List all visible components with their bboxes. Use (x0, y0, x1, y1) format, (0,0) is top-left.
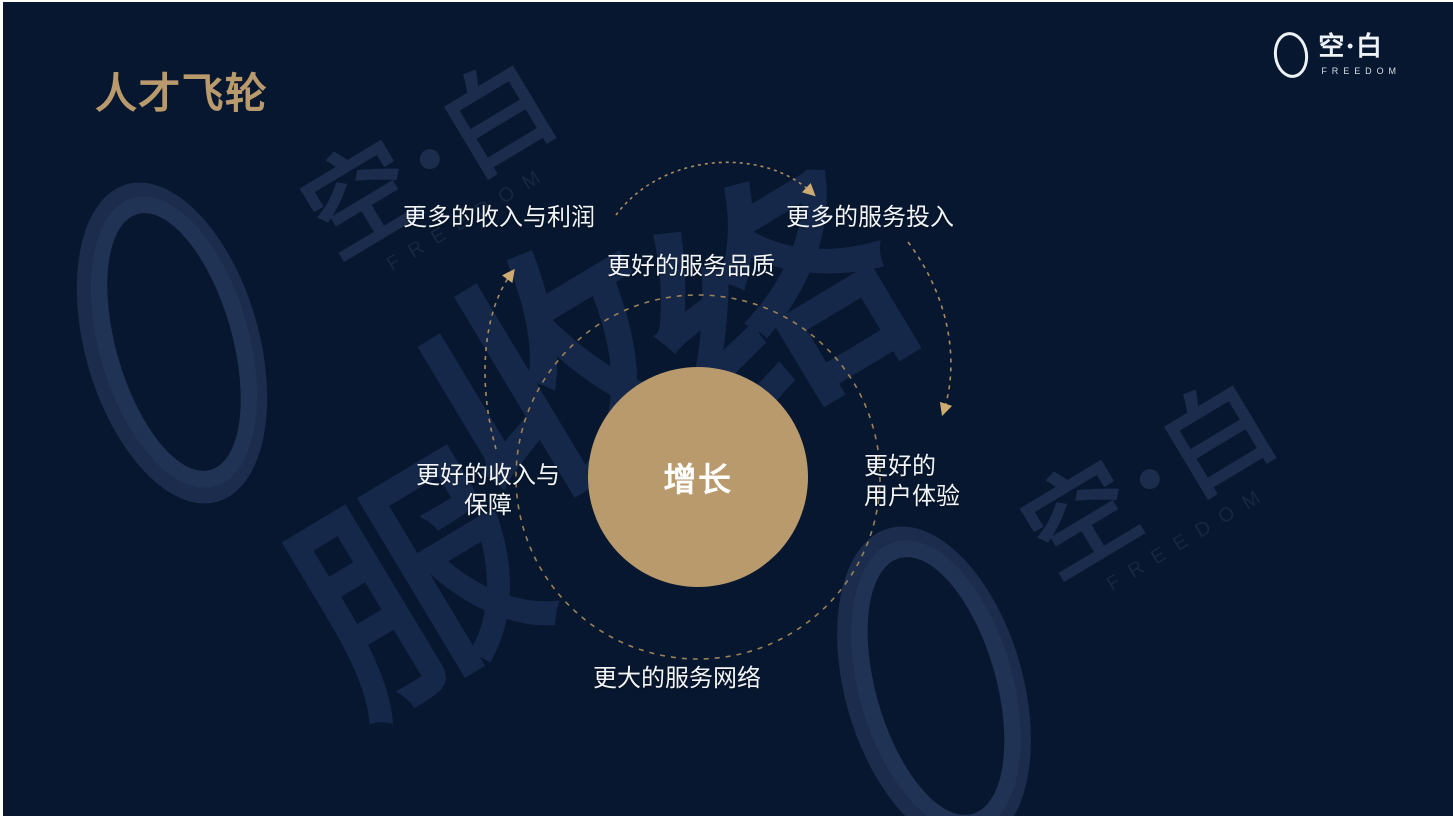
hub-label: 增长 (663, 453, 732, 501)
arc-left (485, 274, 511, 449)
node-label-invest: 更多的服务投入 (786, 202, 954, 232)
node-label-income: 更好的收入与 保障 (402, 460, 574, 520)
slide-canvas: 空·白 FREEDOM 空·白 FREEDOM 收 络 服 人才飞轮 空·白 F… (0, 0, 1453, 816)
flywheel-diagram: 增长 更多的收入与利润 更多的服务投入 更好的服务品质 更好的收入与 保障 更好… (3, 2, 1453, 816)
node-label-revenue: 更多的收入与利润 (403, 202, 595, 232)
flywheel-hub: 增长 (588, 367, 808, 587)
node-label-network: 更大的服务网络 (593, 663, 761, 693)
node-label-quality: 更好的服务品质 (607, 251, 775, 281)
arc-right (908, 242, 951, 410)
node-label-user-experience: 更好的 用户体验 (864, 451, 960, 511)
arc-top (616, 162, 811, 215)
